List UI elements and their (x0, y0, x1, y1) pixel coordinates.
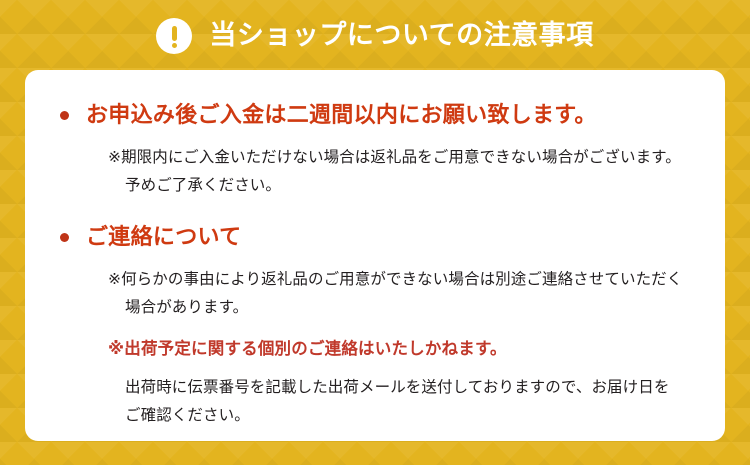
warning-line-1: ※出荷予定に関する個別のご連絡はいたしかねます。 (108, 340, 507, 358)
exclamation-bar (172, 26, 177, 41)
bullet-heading-row: ご連絡について (47, 222, 703, 252)
exclamation-circle-icon (156, 18, 192, 54)
notice-section-payment: お申込み後ご入金は二週間以内にお願い致します。 ※期限内にご入金いただけない場合… (47, 100, 703, 200)
warning-text: ※出荷予定に関する個別のご連絡はいたしかねます。 (108, 334, 703, 364)
note-text: ※何らかの事由により返礼品のご用意ができない場合は別途ご連絡させていただく 場合… (108, 266, 703, 322)
note-text: ※期限内にご入金いただけない場合は返礼品をご用意できない場合がございます。 予め… (108, 144, 703, 200)
bullet-marker-icon (60, 233, 69, 242)
note-line-2: 場合があります。 (108, 294, 703, 322)
note-line-1: 出荷時に伝票番号を記載した出荷メールを送付しておりますので、お届け日を (108, 374, 703, 402)
exclamation-dot (172, 43, 177, 48)
bullet-marker-icon (60, 111, 69, 120)
note-text: 出荷時に伝票番号を記載した出荷メールを送付しておりますので、お届け日を ご確認く… (108, 374, 703, 430)
section-heading: ご連絡について (86, 222, 241, 252)
note-line-1: ※何らかの事由により返礼品のご用意ができない場合は別途ご連絡させていただく (108, 271, 682, 288)
notice-card: お申込み後ご入金は二週間以内にお願い致します。 ※期限内にご入金いただけない場合… (25, 70, 725, 441)
note-line-2: 予めご了承ください。 (108, 172, 703, 200)
note-line-2: ご確認ください。 (108, 402, 703, 430)
notice-header: 当ショップについての注意事項 (0, 0, 750, 70)
bullet-heading-row: お申込み後ご入金は二週間以内にお願い致します。 (47, 100, 703, 130)
notice-section-contact: ご連絡について ※何らかの事由により返礼品のご用意ができない場合は別途ご連絡させ… (47, 222, 703, 431)
page-title: 当ショップについての注意事項 (209, 22, 593, 49)
note-line-1: ※期限内にご入金いただけない場合は返礼品をご用意できない場合がございます。 (108, 149, 681, 166)
section-heading: お申込み後ご入金は二週間以内にお願い致します。 (86, 100, 597, 130)
